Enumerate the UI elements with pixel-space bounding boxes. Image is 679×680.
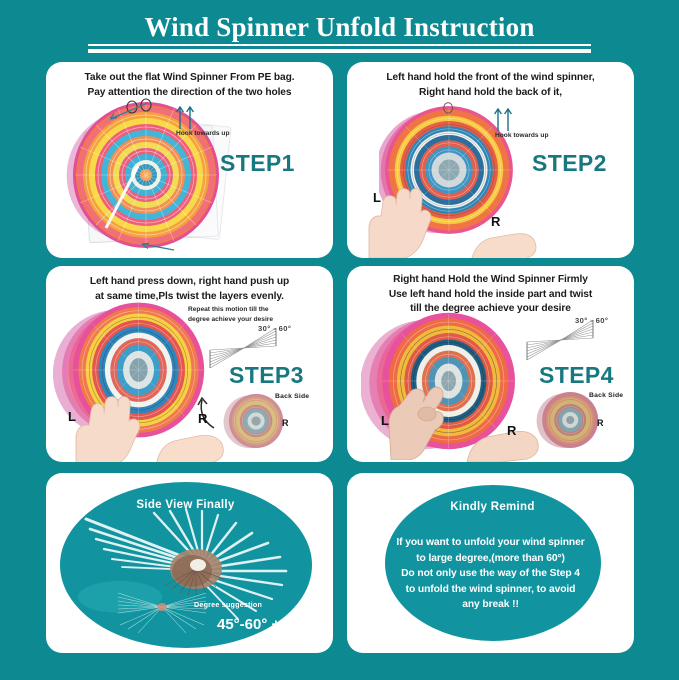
instruction-line-1: Left hand hold the front of the wind spi…	[347, 71, 634, 86]
panel-step4: Right hand Hold the Wind Spinner Firmly …	[347, 266, 634, 462]
right-hand-graphic	[469, 212, 539, 258]
left-hand-label: L	[373, 190, 381, 205]
side-view-title: Side View Finally	[46, 499, 329, 511]
inset-right-hand-label: R	[282, 418, 289, 428]
remind-line-4: to unfold the wind spinner, to avoid	[347, 582, 634, 598]
kindly-remind-body: If you want to unfold your wind spinner …	[347, 535, 634, 613]
repeat-note-line-1: Repeat this motion till the	[188, 305, 273, 315]
panel-step3: Left hand press down, right hand push up…	[46, 266, 333, 462]
pointer-arrow-bottom	[136, 240, 176, 254]
divider-line-thick	[88, 49, 591, 53]
instruction-line-1: Right hand Hold the Wind Spinner Firmly	[347, 273, 634, 288]
degree-suggestion-label: Degree suggestion	[194, 600, 262, 609]
degree-suggestion-value: 45°-60° +	[217, 616, 280, 633]
panel-step1: Take out the flat Wind Spinner From PE b…	[46, 62, 333, 258]
instruction-line-2: Right hand hold the back of it,	[347, 86, 634, 101]
right-hand-graphic	[465, 412, 545, 462]
hook-note-label: Hook towards up	[495, 132, 548, 139]
side-view-ellipse: Side View Finally Degree suggestion 45°-…	[46, 473, 333, 653]
remind-line-5: any break !!	[347, 597, 634, 613]
panel-step2: Left hand hold the front of the wind spi…	[347, 62, 634, 258]
kindly-remind-title: Kindly Remind	[349, 501, 634, 513]
hook-up-arrow-icon	[174, 104, 196, 130]
title-divider	[88, 44, 591, 53]
panel-kindly-remind: Kindly Remind If you want to unfold your…	[347, 473, 634, 653]
panel-side-view: Side View Finally Degree suggestion 45°-…	[46, 473, 333, 653]
step-label-1: STEP1	[220, 150, 295, 177]
left-hand-label: L	[381, 413, 389, 428]
remind-line-1: If you want to unfold your wind spinner	[347, 535, 634, 551]
hook-note-label: Hook towards up	[176, 130, 229, 137]
remind-line-2: to large degree,(more than 60°)	[347, 551, 634, 567]
backside-caption: Back Side	[589, 392, 623, 399]
left-hand-graphic	[72, 390, 152, 462]
step-label-4: STEP4	[539, 362, 614, 389]
right-hand-label: R	[491, 214, 500, 229]
remind-line-3: Do not only use the way of the Step 4	[347, 566, 634, 582]
repeat-note-line-2: degree achieve your desire	[188, 315, 273, 325]
degree-range-label: 30° - 60°	[258, 324, 291, 333]
step-label-2: STEP2	[532, 150, 607, 177]
page-title: Wind Spinner Unfold Instruction	[0, 12, 679, 43]
repeat-motion-note: Repeat this motion till the degree achie…	[188, 305, 273, 324]
panel-step2-instruction: Left hand hold the front of the wind spi…	[347, 71, 634, 100]
backside-caption: Back Side	[275, 393, 309, 400]
inset-right-hand-label: R	[597, 418, 604, 428]
degree-range-label: 30° - 60°	[575, 316, 608, 325]
instruction-line-2: Use left hand hold the inside part and t…	[347, 288, 634, 303]
instruction-poster: Wind Spinner Unfold Instruction Take out…	[0, 0, 679, 680]
step-label-3: STEP3	[229, 362, 304, 389]
instruction-line-1: Take out the flat Wind Spinner From PE b…	[46, 71, 333, 86]
pointer-arrow-top	[102, 100, 150, 122]
right-hand-label: R	[198, 411, 207, 426]
hook-up-arrow-icon	[492, 106, 514, 132]
kindly-remind-ellipse: Kindly Remind If you want to unfold your…	[347, 473, 634, 653]
right-hand-label: R	[507, 423, 516, 438]
instruction-line-1: Left hand press down, right hand push up	[46, 275, 333, 290]
left-hand-graphic	[383, 366, 457, 460]
left-hand-label: L	[68, 409, 76, 424]
